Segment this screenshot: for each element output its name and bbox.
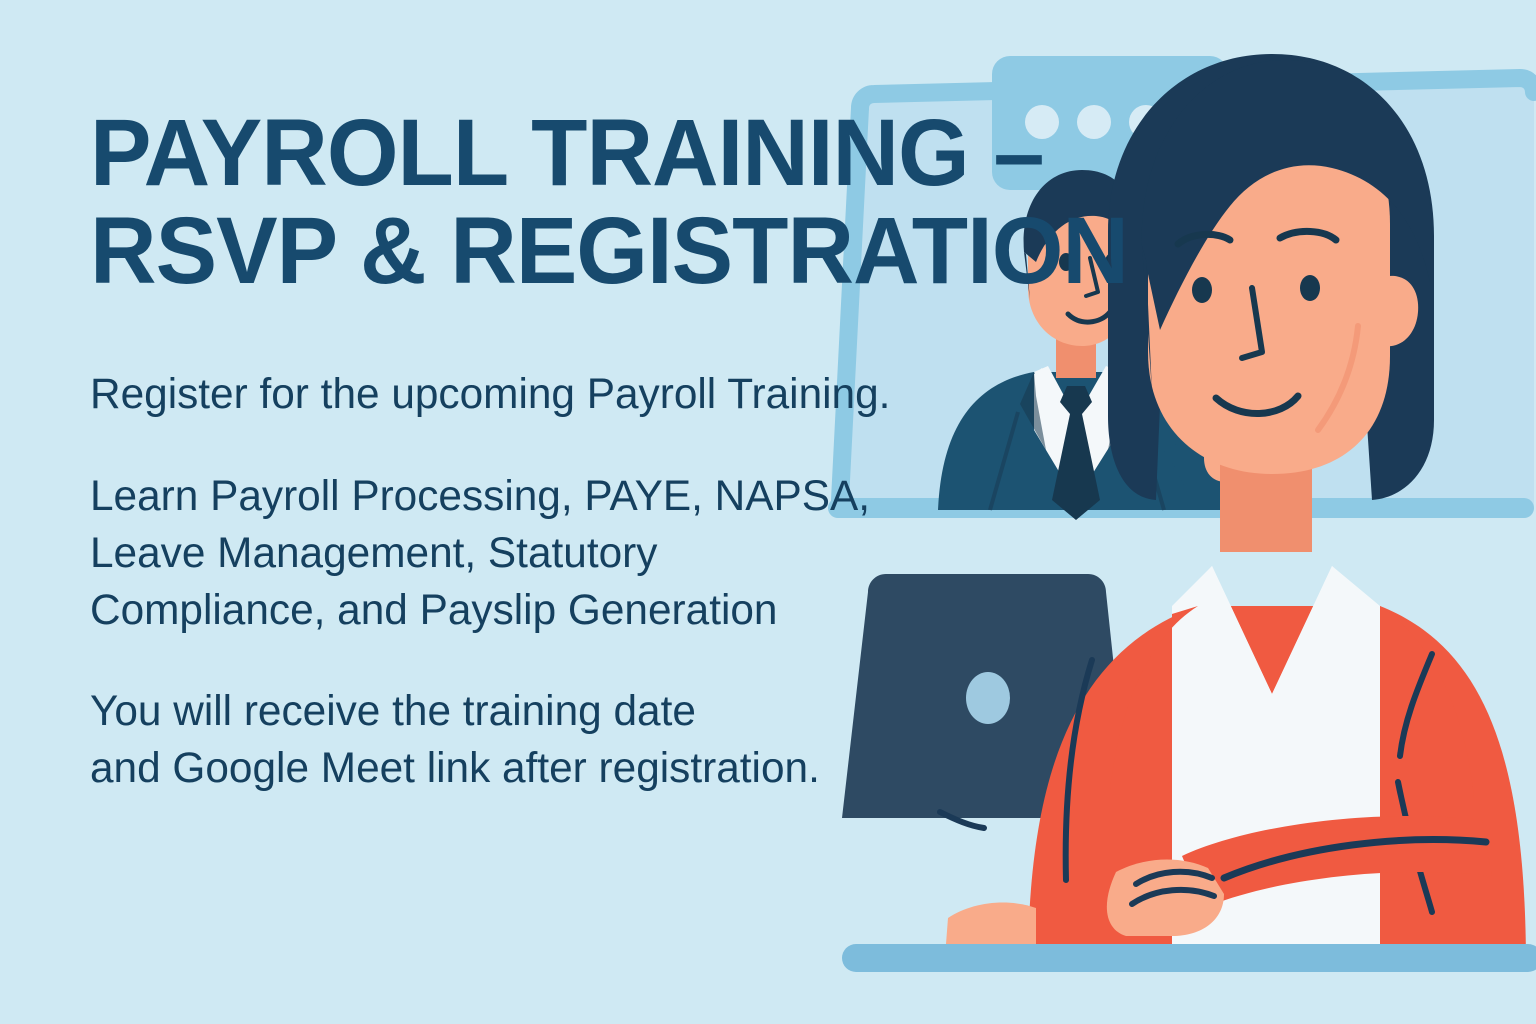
followup-paragraph: You will receive the training date and G… (90, 683, 1193, 797)
poster-canvas: PAYROLL TRAINING – RSVP & REGISTRATION R… (0, 0, 1536, 1024)
intro-paragraph: Register for the upcoming Payroll Traini… (90, 366, 1193, 423)
page-title: PAYROLL TRAINING – RSVP & REGISTRATION (90, 104, 1176, 300)
topics-paragraph: Learn Payroll Processing, PAYE, NAPSA, L… (90, 468, 1193, 639)
text-column: PAYROLL TRAINING – RSVP & REGISTRATION R… (90, 104, 1210, 797)
desk-bar (842, 944, 1536, 972)
